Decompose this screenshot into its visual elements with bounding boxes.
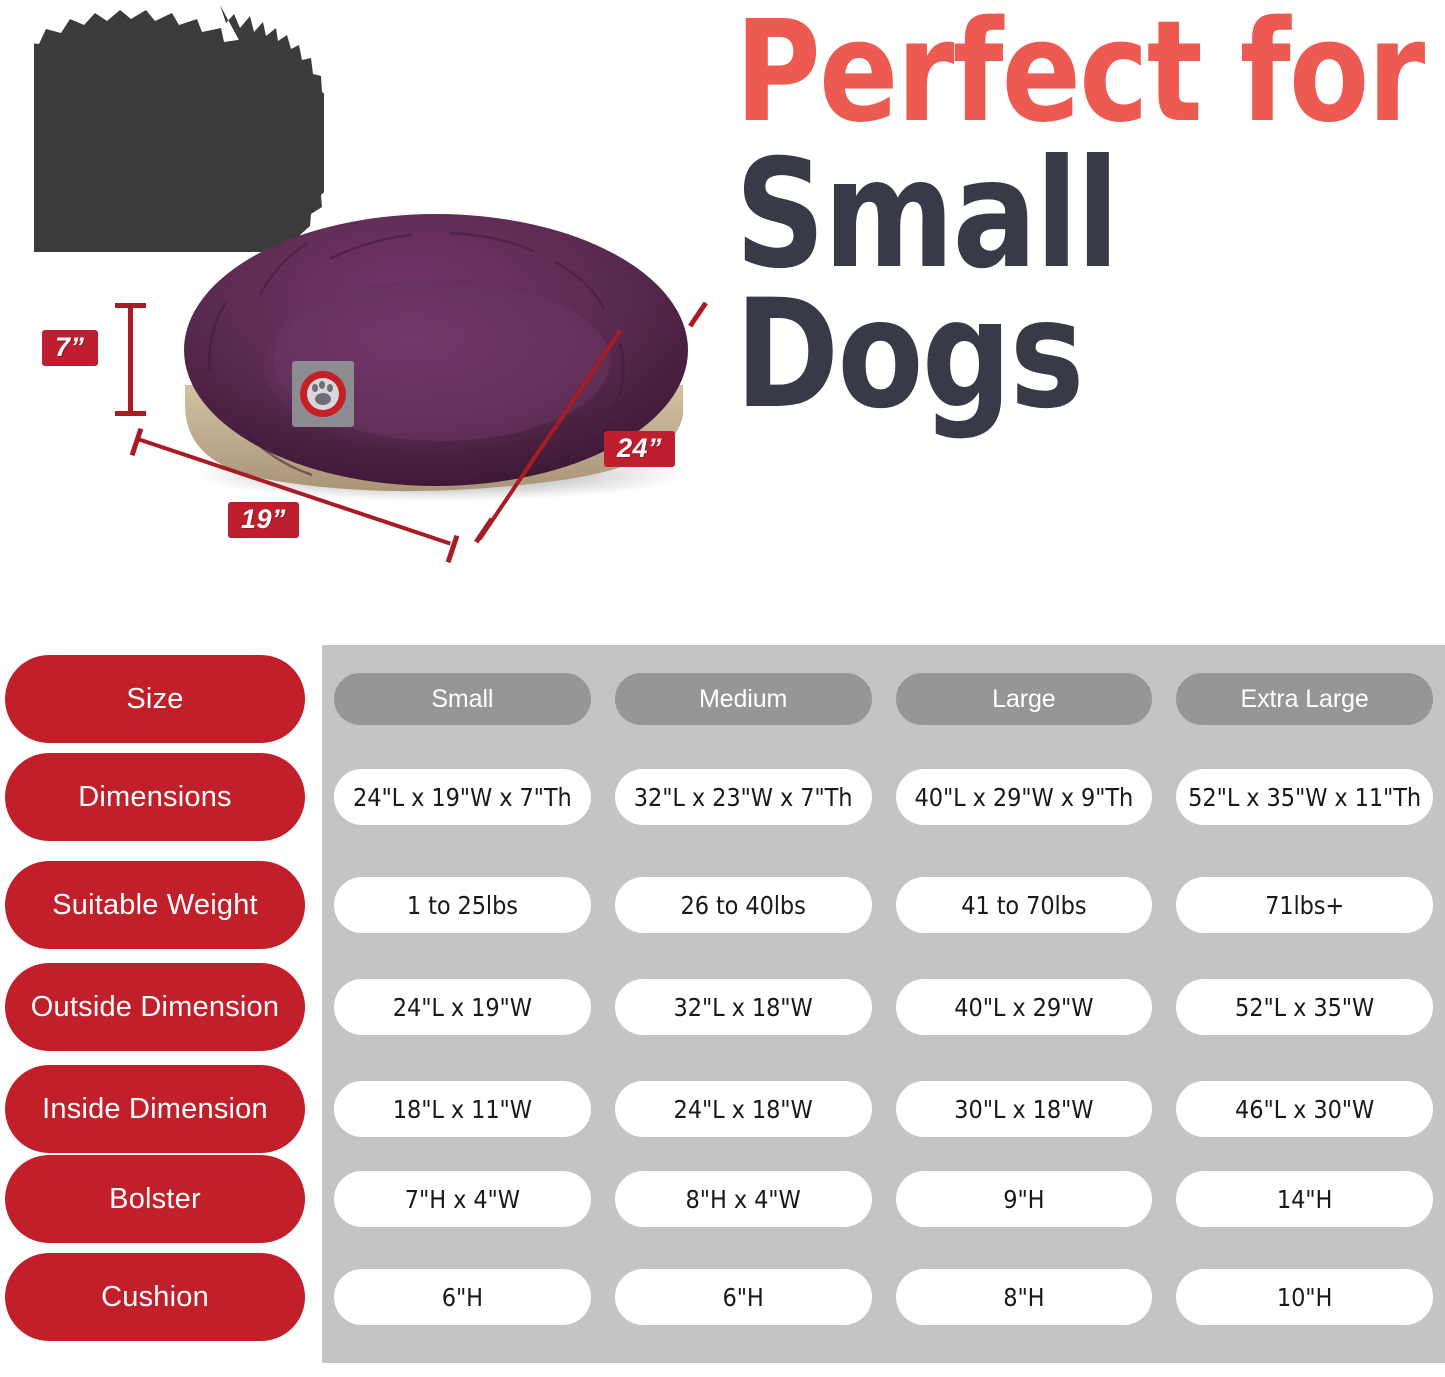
cell-value: 24"L x 19"W [334,979,591,1035]
table-cell: 10"H [1164,1269,1445,1325]
brand-tag [292,361,354,427]
cell-value: 6"H [615,1269,872,1325]
table-cell: 18"L x 11"W [322,1081,603,1137]
table-cell: 52"L x 35"W [1164,979,1445,1035]
table-row: Bolster7"H x 4"W8"H x 4"W9"H14"H [0,1155,1445,1243]
table-cell: 41 to 70lbs [884,877,1165,933]
table-cell: 7"H x 4"W [322,1171,603,1227]
table-cell: 40"L x 29"W x 9"Th [884,769,1165,825]
cell-value: 10"H [1176,1269,1433,1325]
cell-value: 6"H [334,1269,591,1325]
cell-value: 32"L x 18"W [615,979,872,1035]
cell-value: 30"L x 18"W [896,1081,1153,1137]
row-label-outside-dimension: Outside Dimension [5,963,305,1051]
specification-table: SizeSmallMediumLargeExtra LargeDimension… [0,645,1445,1363]
table-cell: 24"L x 18"W [603,1081,884,1137]
table-cell: 40"L x 29"W [884,979,1165,1035]
cell-value: 52"L x 35"W x 11"Th [1176,769,1433,825]
table-row: Dimensions24"L x 19"W x 7"Th32"L x 23"W … [0,753,1445,841]
table-row: Cushion6"H6"H8"H10"H [0,1253,1445,1341]
headline-line-1: Perfect for [735,8,1386,138]
cell-value: 24"L x 18"W [615,1081,872,1137]
height-measure-cap-bottom [115,411,146,416]
row-label-dimensions: Dimensions [5,753,305,841]
length-measure-cap-start [474,517,494,543]
infographic-page: 7” 19” 24” Perfect for Small Dogs SizeSm… [0,0,1445,1377]
table-header-cell: Medium [603,673,884,725]
cell-value: 71lbs+ [1176,877,1433,933]
cell-value: 24"L x 19"W x 7"Th [334,769,591,825]
table-header-cell: Large [884,673,1165,725]
table-cell: 8"H [884,1269,1165,1325]
table-cell: 1 to 25lbs [322,877,603,933]
cell-value: 8"H [896,1269,1153,1325]
cell-value: 18"L x 11"W [334,1081,591,1137]
cell-value: 40"L x 29"W [896,979,1153,1035]
cell-value: 40"L x 29"W x 9"Th [896,769,1153,825]
row-label-size: Size [5,655,305,743]
callout-height-badge: 7” [42,330,98,366]
table-cell: 26 to 40lbs [603,877,884,933]
headline-line-3: Dogs [735,286,1386,426]
headline: Perfect for Small Dogs [735,8,1435,425]
table-cell: 24"L x 19"W [322,979,603,1035]
table-cell: 71lbs+ [1164,877,1445,933]
table-cell: 9"H [884,1171,1165,1227]
table-header-cell: Small [322,673,603,725]
column-header-large: Large [896,673,1153,725]
table-header-cell: Extra Large [1164,673,1445,725]
table-cell: 8"H x 4"W [603,1171,884,1227]
row-label-cushion: Cushion [5,1253,305,1341]
cell-value: 8"H x 4"W [615,1171,872,1227]
column-header-small: Small [334,673,591,725]
table-cell: 6"H [322,1269,603,1325]
cell-value: 26 to 40lbs [615,877,872,933]
callout-width-badge: 19” [228,502,299,538]
table-row: Suitable Weight1 to 25lbs26 to 40lbs41 t… [0,861,1445,949]
table-cell: 32"L x 23"W x 7"Th [603,769,884,825]
cell-value: 14"H [1176,1171,1433,1227]
hero-section: 7” 19” 24” Perfect for Small Dogs [0,0,1445,620]
table-cell: 6"H [603,1269,884,1325]
cell-value: 46"L x 30"W [1176,1081,1433,1137]
width-measure-cap-end [446,535,460,563]
table-cell: 46"L x 30"W [1164,1081,1445,1137]
cell-value: 41 to 70lbs [896,877,1153,933]
table-cell: 14"H [1164,1171,1445,1227]
table-cell: 32"L x 18"W [603,979,884,1035]
cell-value: 7"H x 4"W [334,1171,591,1227]
cell-value: 52"L x 35"W [1176,979,1433,1035]
headline-line-2: Small [735,146,1386,286]
row-label-bolster: Bolster [5,1155,305,1243]
row-label-inside-dimension: Inside Dimension [5,1065,305,1153]
cell-value: 1 to 25lbs [334,877,591,933]
cell-value: 32"L x 23"W x 7"Th [615,769,872,825]
row-label-suitable-weight: Suitable Weight [5,861,305,949]
table-row: Outside Dimension24"L x 19"W32"L x 18"W4… [0,963,1445,1051]
column-header-medium: Medium [615,673,872,725]
cell-value: 9"H [896,1171,1153,1227]
column-header-extra-large: Extra Large [1176,673,1433,725]
table-cell: 30"L x 18"W [884,1081,1165,1137]
height-measure-cap-top [115,303,146,308]
table-cell: 24"L x 19"W x 7"Th [322,769,603,825]
table-row: Inside Dimension18"L x 11"W24"L x 18"W30… [0,1065,1445,1153]
height-measure-line [128,305,133,415]
callout-length-badge: 24” [604,431,675,467]
table-header-row: SizeSmallMediumLargeExtra Large [0,655,1445,743]
table-cell: 52"L x 35"W x 11"Th [1164,769,1445,825]
